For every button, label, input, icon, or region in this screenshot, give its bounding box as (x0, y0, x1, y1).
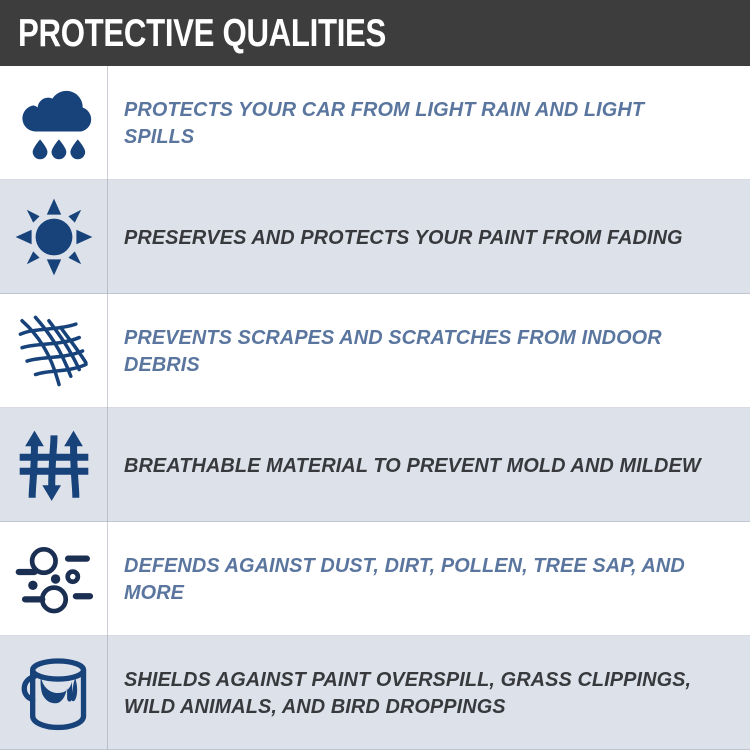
list-item: SHIELDS AGAINST PAINT OVERSPILL, GRASS C… (0, 636, 750, 750)
list-item: PROTECTS YOUR CAR FROM LIGHT RAIN AND LI… (0, 66, 750, 180)
protective-qualities-infographic: PROTECTIVE QUALITIES PROTECTS YOUR CAR F… (0, 0, 750, 750)
list-item: BREATHABLE MATERIAL TO PREVENT MOLD AND … (0, 408, 750, 522)
paint-can-icon (13, 652, 95, 734)
icon-cell (0, 294, 108, 408)
icon-cell (0, 66, 108, 180)
text-cell: SHIELDS AGAINST PAINT OVERSPILL, GRASS C… (108, 636, 750, 750)
list-item: DEFENDS AGAINST DUST, DIRT, POLLEN, TREE… (0, 522, 750, 636)
list-item-label: DEFENDS AGAINST DUST, DIRT, POLLEN, TREE… (124, 552, 718, 606)
woven-mesh-icon (12, 309, 96, 393)
feature-list: PROTECTS YOUR CAR FROM LIGHT RAIN AND LI… (0, 66, 750, 750)
text-cell: PREVENTS SCRAPES AND SCRATCHES FROM INDO… (108, 294, 750, 408)
text-cell: PROTECTS YOUR CAR FROM LIGHT RAIN AND LI… (108, 66, 750, 180)
icon-cell (0, 408, 108, 522)
text-cell: DEFENDS AGAINST DUST, DIRT, POLLEN, TREE… (108, 522, 750, 636)
list-item-label: PREVENTS SCRAPES AND SCRATCHES FROM INDO… (124, 324, 718, 378)
page-title: PROTECTIVE QUALITIES (18, 14, 386, 53)
breathable-airflow-arrows-icon (15, 426, 93, 504)
dust-particles-icon (11, 539, 97, 619)
icon-cell (0, 636, 108, 750)
icon-cell (0, 522, 108, 636)
text-cell: BREATHABLE MATERIAL TO PREVENT MOLD AND … (108, 408, 750, 522)
icon-cell (0, 180, 108, 294)
list-item-label: PROTECTS YOUR CAR FROM LIGHT RAIN AND LI… (124, 96, 718, 150)
list-item-label: BREATHABLE MATERIAL TO PREVENT MOLD AND … (124, 452, 701, 479)
header-bar: PROTECTIVE QUALITIES (0, 0, 750, 66)
text-cell: PRESERVES AND PROTECTS YOUR PAINT FROM F… (108, 180, 750, 294)
list-item: PRESERVES AND PROTECTS YOUR PAINT FROM F… (0, 180, 750, 294)
sun-icon (14, 197, 94, 277)
rain-cloud-icon (13, 82, 95, 164)
list-item-label: PRESERVES AND PROTECTS YOUR PAINT FROM F… (124, 224, 683, 251)
list-item-label: SHIELDS AGAINST PAINT OVERSPILL, GRASS C… (124, 666, 718, 720)
list-item: PREVENTS SCRAPES AND SCRATCHES FROM INDO… (0, 294, 750, 408)
